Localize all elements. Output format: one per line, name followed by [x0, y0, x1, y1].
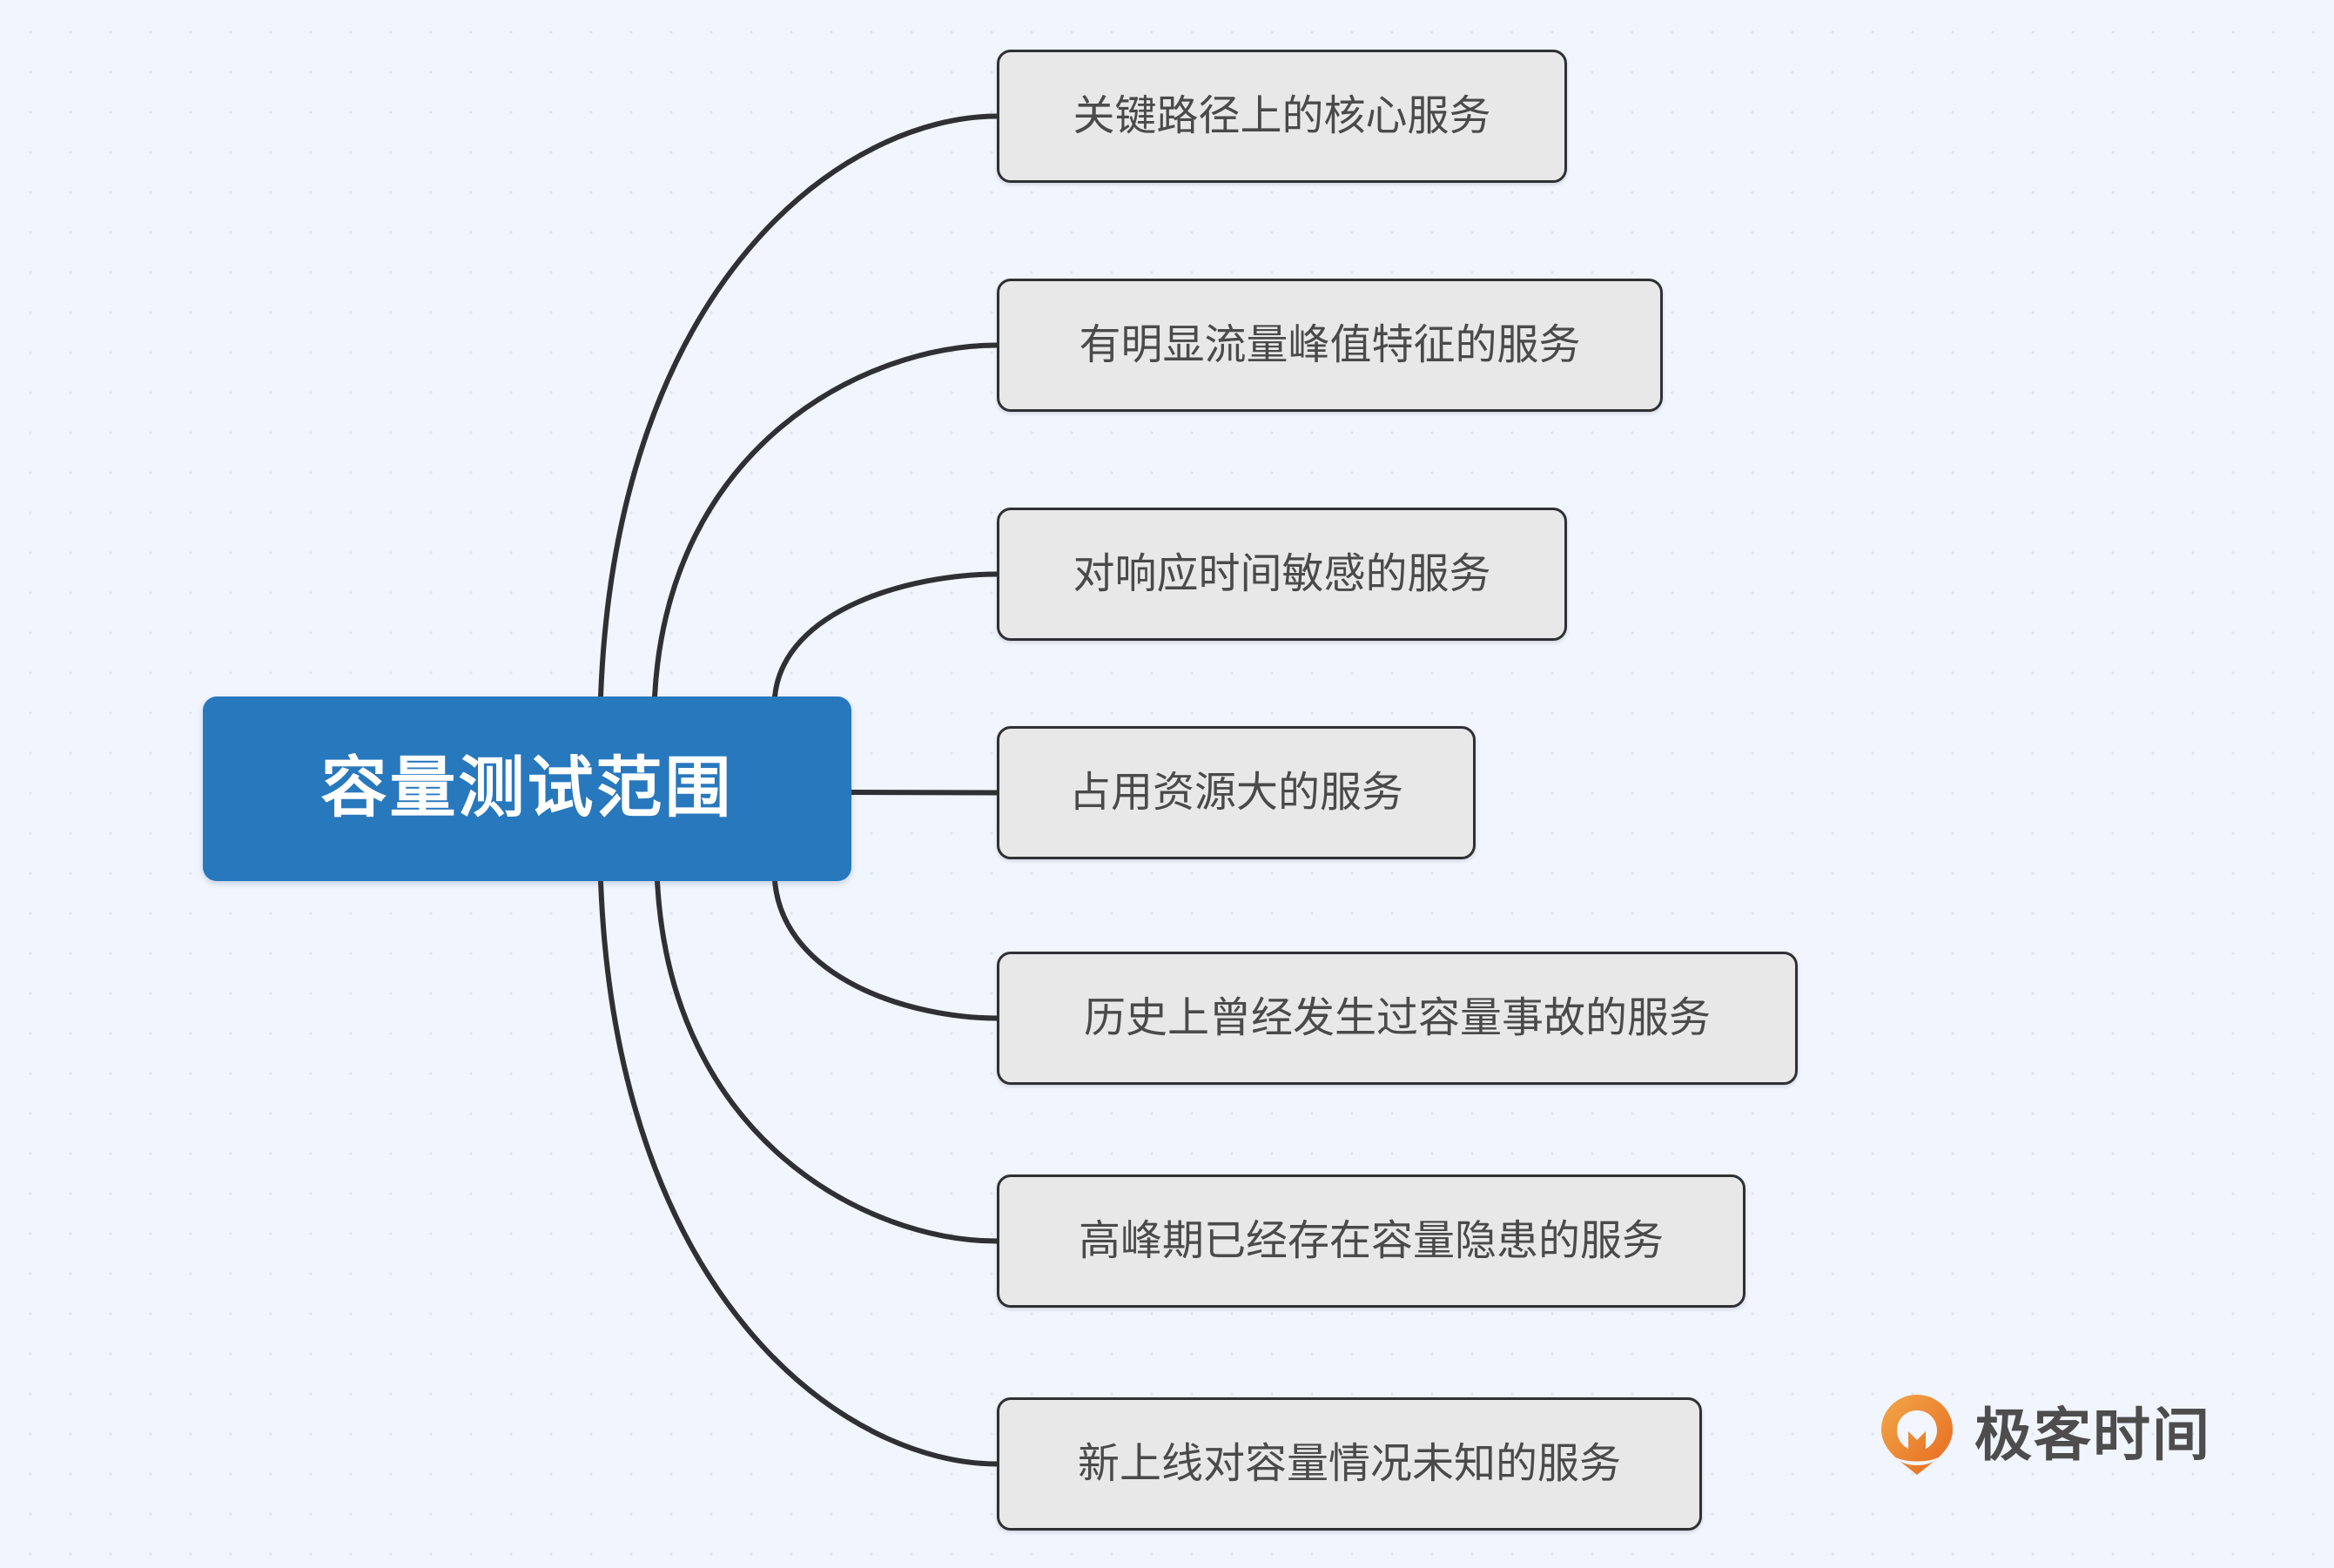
leaf-node-label: 对响应时间敏感的服务 [1073, 554, 1490, 596]
leaf-node-label: 关键路径上的核心服务 [1073, 96, 1490, 138]
leaf-node[interactable]: 占用资源大的服务 [997, 726, 1476, 859]
leaf-node[interactable]: 有明显流量峰值特征的服务 [997, 279, 1663, 412]
leaf-node[interactable]: 高峰期已经存在容量隐患的服务 [997, 1174, 1745, 1308]
leaf-node-label: 历史上曾经发生过容量事故的服务 [1084, 998, 1711, 1040]
leaf-node-label: 高峰期已经存在容量隐患的服务 [1079, 1221, 1664, 1262]
leaf-node[interactable]: 对响应时间敏感的服务 [997, 508, 1567, 641]
leaf-node-label: 有明显流量峰值特征的服务 [1079, 325, 1580, 367]
connector-path [655, 346, 997, 697]
connector-path [601, 881, 997, 1464]
leaf-node-label: 新上线对容量情况未知的服务 [1078, 1444, 1621, 1485]
leaf-node[interactable]: 历史上曾经发生过容量事故的服务 [997, 952, 1798, 1085]
connector-path [775, 881, 997, 1019]
brand-name: 极客时间 [1974, 1406, 2211, 1464]
connector-path [601, 117, 997, 697]
brand-logo: 极客时间 [1879, 1393, 2211, 1477]
connector-path [775, 575, 997, 697]
root-node[interactable]: 容量测试范围 [203, 697, 851, 881]
root-node-label: 容量测试范围 [321, 756, 734, 822]
connector-path [851, 792, 997, 793]
leaf-node-label: 占用资源大的服务 [1069, 772, 1403, 814]
leaf-node[interactable]: 关键路径上的核心服务 [997, 50, 1567, 183]
mindmap-canvas: 容量测试范围 关键路径上的核心服务有明显流量峰值特征的服务对响应时间敏感的服务占… [0, 0, 2334, 1568]
leaf-node[interactable]: 新上线对容量情况未知的服务 [997, 1397, 1702, 1531]
connector-path [657, 881, 997, 1242]
geektime-pin-icon [1879, 1393, 1955, 1477]
